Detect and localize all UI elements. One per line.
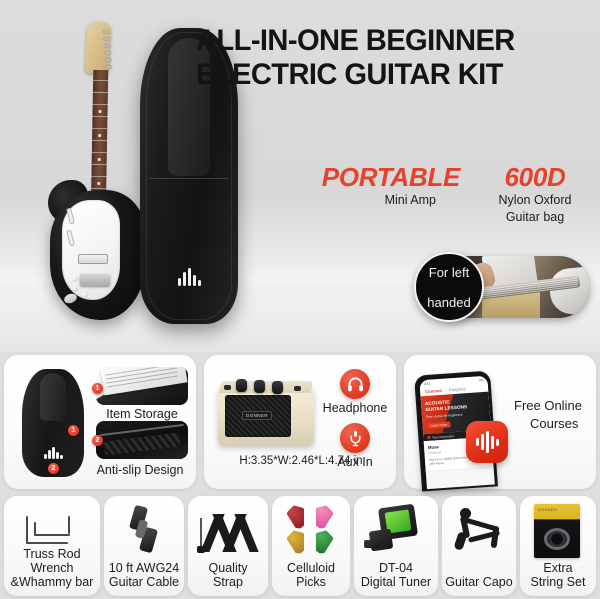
status-network: 4G: [479, 377, 484, 381]
courses-line-2: Courses: [514, 415, 594, 433]
caption-line-2: Digital Tuner: [354, 575, 438, 589]
marker-1-on-bag: 1: [68, 425, 79, 436]
amp-brand-badge: DONNER: [242, 411, 272, 420]
caption-line-1: DT-04: [354, 561, 438, 575]
left-handed-line-1: For left: [427, 265, 470, 280]
label-aux-in: Aux In: [312, 455, 398, 469]
guitar-cable-icon: [104, 502, 184, 558]
panel-mini-amp: DONNER H:3.35*W:2.46*L:4.74 in Headphone…: [204, 355, 396, 489]
panel-bag-features: 1 2 1 Item Storage 2 Anti-slip Design: [4, 355, 196, 489]
tab-courses[interactable]: Courses: [425, 388, 442, 394]
accessory-guitar-cable: 10 ft AWG24 Guitar Cable: [104, 496, 184, 596]
accessory-quality-strap: Quality Strap: [188, 496, 268, 596]
phone-hero-button[interactable]: Learn more: [426, 421, 451, 429]
left-handed-badge: For left handed: [414, 252, 484, 322]
left-handed-line-2: handed: [427, 295, 470, 310]
string-pack-brand: DONNER: [538, 507, 557, 512]
caption-line-2: String Set: [520, 575, 596, 589]
item-storage-thumbnail: [96, 367, 188, 405]
accessory-truss-rod-wrench: Truss Rod Wrench &Whammy bar: [4, 496, 100, 596]
musa-app-icon: [466, 421, 508, 463]
caption-quality-strap: Quality Strap: [188, 561, 268, 589]
accessory-celluloid-picks: Celluloid Picks: [272, 496, 350, 596]
caption-extra-string-set: Extra String Set: [520, 561, 596, 589]
accessory-digital-tuner: DT-04 Digital Tuner: [354, 496, 438, 596]
donner-logo-icon: [44, 447, 64, 459]
marker-2-callout: 2: [92, 435, 103, 446]
caption-line-1: Celluloid: [272, 561, 350, 575]
callout-600d-sub-2: Guitar bag: [476, 210, 594, 225]
digital-tuner-icon: [354, 502, 438, 558]
guitar-bridge: [80, 274, 110, 286]
callout-portable-sub: Mini Amp: [304, 193, 464, 208]
feature-panels: 1 2 1 Item Storage 2 Anti-slip Design DO…: [0, 352, 600, 492]
status-time: 9:41: [423, 381, 430, 385]
caption-guitar-capo: Guitar Capo: [442, 575, 516, 589]
caption-line-1: Extra: [520, 561, 596, 575]
caption-line-1: Quality: [188, 561, 268, 575]
guitar-capo-icon: [442, 502, 516, 558]
guitar-humbucker-pickup: [78, 254, 108, 264]
hero-callouts: PORTABLE Mini Amp 600D Nylon Oxford Guit…: [300, 163, 600, 233]
amp-knob: [254, 380, 265, 393]
caption-item-storage: Item Storage: [90, 407, 194, 421]
panel-online-courses: 9:41 4G Courses Progress ACOUSTIC GUITAR…: [404, 355, 596, 489]
caption-truss-rod-wrench: Truss Rod Wrench &Whammy bar: [4, 547, 100, 589]
guitar-headstock: [85, 21, 112, 74]
caption-line-1: 10 ft AWG24: [104, 561, 184, 575]
label-free-online-courses: Free Online Courses: [514, 397, 594, 433]
caption-guitar-cable: 10 ft AWG24 Guitar Cable: [104, 561, 184, 589]
callout-600d: 600D Nylon Oxford Guitar bag: [476, 163, 594, 225]
quality-strap-icon: [188, 502, 268, 558]
caption-anti-slip-design: Anti-slip Design: [84, 463, 196, 477]
caption-line-1: Guitar Capo: [442, 575, 516, 589]
marker-1-callout: 1: [92, 383, 103, 394]
aux-in-icon: [340, 423, 370, 453]
callout-600d-sub-1: Nylon Oxford: [476, 193, 594, 208]
page-title: ALL-IN-ONE BEGINNER ELECTRIC GUITAR KIT: [196, 24, 594, 92]
hero-section: ALL-IN-ONE BEGINNER ELECTRIC GUITAR KIT …: [0, 0, 600, 352]
headline-line-2: ELECTRIC GUITAR KIT: [196, 58, 582, 92]
accessories-row: Truss Rod Wrench &Whammy bar 10 ft AWG24…: [0, 494, 600, 599]
caption-celluloid-picks: Celluloid Picks: [272, 561, 350, 589]
headline-line-1: ALL-IN-ONE BEGINNER: [196, 24, 582, 58]
caption-line-1: Truss Rod Wrench: [4, 547, 100, 575]
tab-progress[interactable]: Progress: [449, 386, 466, 392]
label-headphone: Headphone: [312, 401, 398, 415]
product-guitar: [42, 22, 152, 322]
amp-knob: [236, 379, 247, 392]
phone-hero-title: ACOUSTIC GUITAR LESSONS: [425, 398, 468, 413]
courses-line-1: Free Online: [514, 397, 594, 415]
callout-600d-title: 600D: [476, 163, 594, 191]
amp-knob: [272, 381, 283, 394]
anti-slip-thumbnail: [96, 421, 188, 459]
caption-line-2: Strap: [188, 575, 268, 589]
accessory-guitar-capo: Guitar Capo: [442, 496, 516, 596]
mini-amp-image: DONNER: [218, 379, 314, 445]
caption-digital-tuner: DT-04 Digital Tuner: [354, 561, 438, 589]
donner-logo-icon: [178, 268, 202, 286]
headphone-icon: [340, 369, 370, 399]
extra-string-set-icon: DONNER: [520, 502, 596, 558]
caption-line-2: Picks: [272, 575, 350, 589]
caption-line-2: &Whammy bar: [4, 575, 100, 589]
marker-2-on-bag: 2: [48, 463, 59, 474]
celluloid-picks-icon: [272, 502, 350, 558]
phone-hero-subtitle: Free course for beginners: [426, 412, 470, 419]
accessory-extra-string-set: DONNER Extra String Set: [520, 496, 596, 596]
mini-gig-bag-image: 1 2: [22, 369, 84, 477]
callout-portable: PORTABLE Mini Amp: [304, 163, 464, 208]
caption-line-2: Guitar Cable: [104, 575, 184, 589]
callout-portable-title: PORTABLE: [304, 163, 464, 191]
